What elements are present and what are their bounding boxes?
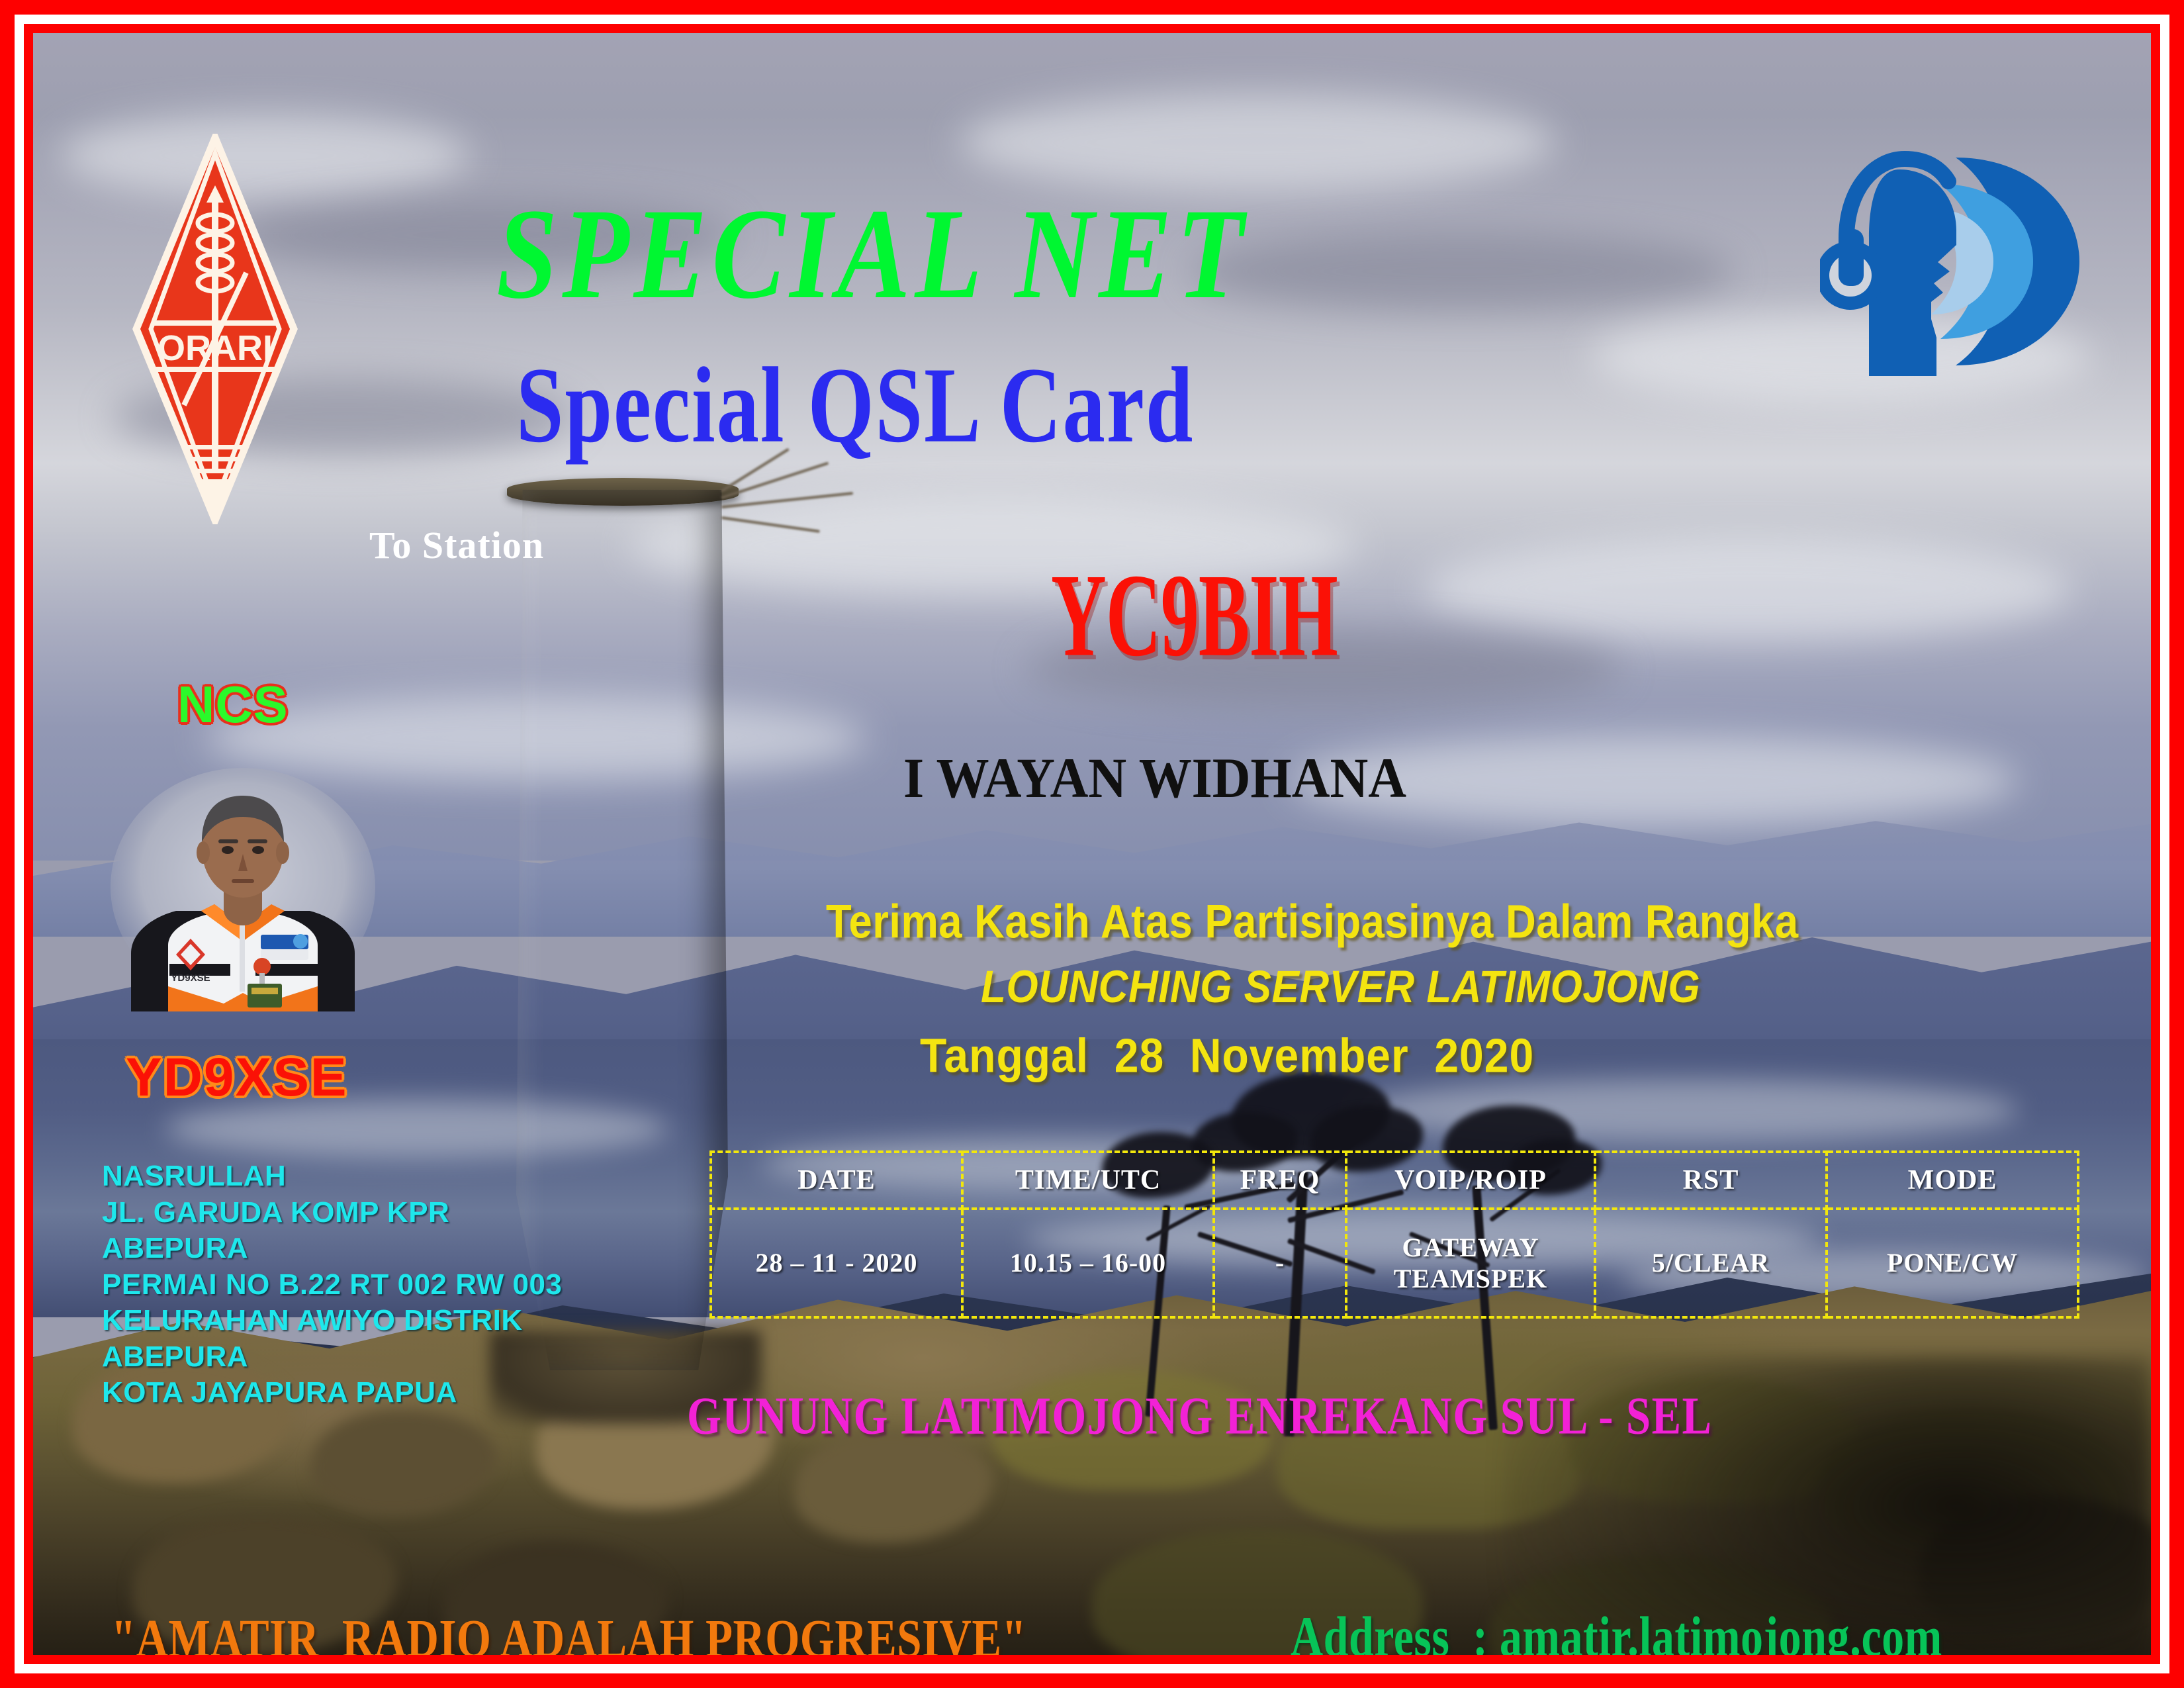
table-header-voip: VOIP/ROIP (1346, 1152, 1595, 1209)
table-cell-mode: PONE/CW (1827, 1209, 2078, 1317)
club-motto: "AMATIR RADIO ADALAH PROGRESIVE" (111, 1611, 1026, 1655)
table-cell-date: 28 – 11 - 2020 (711, 1209, 962, 1317)
table-header-mode: MODE (1827, 1152, 2078, 1209)
web-address: Address : amatir.latimojong.com (1291, 1609, 1942, 1655)
event-date: Tanggal 28 November 2020 (920, 1031, 1534, 1080)
ncs-label: NCS (177, 679, 289, 730)
address-line: ABEPURA (102, 1339, 645, 1376)
station-callsign: YC9BIH (1051, 556, 1338, 675)
table-row: 28 – 11 - 2020 10.15 – 16-00 - GATEWAY T… (711, 1209, 2078, 1317)
address-line: JL. GARUDA KOMP KPR (102, 1195, 645, 1231)
table-cell-rst: 5/CLEAR (1595, 1209, 1827, 1317)
qsl-card-background-photo: ORARI (33, 33, 2151, 1655)
event-name: LOUNCHING SERVER LATIMOJONG (981, 965, 1700, 1010)
operator-name: I WAYAN WIDHANA (903, 749, 1406, 806)
table-cell-time: 10.15 – 16-00 (962, 1209, 1214, 1317)
orari-diamond-logo: ORARI (132, 134, 298, 524)
to-station-label: To Station (369, 526, 544, 565)
table-header-time: TIME/UTC (962, 1152, 1214, 1209)
qsl-card-outer-frame: ORARI (0, 0, 2184, 1688)
sender-address-block: NASRULLAH JL. GARUDA KOMP KPR ABEPURA PE… (102, 1158, 645, 1411)
uniform-callsign-patch: YD9XSE (171, 972, 210, 984)
table-header-rst: RST (1595, 1152, 1827, 1209)
ncs-callsign: YD9XSE (126, 1051, 348, 1105)
orari-wordmark: ORARI (158, 328, 273, 368)
table-header-row: DATE TIME/UTC FREQ VOIP/ROIP RST MODE (711, 1152, 2078, 1209)
ncs-operator-portrait: YD9XSE (107, 768, 379, 1013)
qth-location: GUNUNG LATIMOJONG ENREKANG SUL - SEL (687, 1389, 1712, 1442)
address-line: KELURAHAN AWIYO DISTRIK (102, 1303, 645, 1339)
qsl-card-frame-gap: ORARI (15, 15, 2169, 1673)
table-cell-voip-line1: GATEWAY (1347, 1232, 1594, 1263)
address-line: PERMAI NO B.22 RT 002 RW 003 (102, 1267, 645, 1303)
table-cell-freq: - (1214, 1209, 1346, 1317)
table-cell-voip: GATEWAY TEAMSPEK (1346, 1209, 1595, 1317)
page-subtitle-qsl-card: Special QSL Card (516, 351, 1194, 459)
address-line: ABEPURA (102, 1231, 645, 1267)
table-cell-voip-line2: TEAMSPEK (1347, 1263, 1594, 1294)
address-line: KOTA JAYAPURA PAPUA (102, 1375, 645, 1411)
page-title-special-net: SPECIAL NET (496, 189, 1248, 318)
table-header-freq: FREQ (1214, 1152, 1346, 1209)
address-line: NASRULLAH (102, 1158, 645, 1195)
qso-log-table: DATE TIME/UTC FREQ VOIP/ROIP RST MODE 28… (709, 1150, 2079, 1319)
table-header-date: DATE (711, 1152, 962, 1209)
thanks-message: Terima Kasih Atas Partisipasinya Dalam R… (826, 898, 1799, 945)
radio-operator-headphone-logo (1820, 146, 2085, 377)
qsl-card-inner-frame: ORARI (24, 24, 2160, 1664)
